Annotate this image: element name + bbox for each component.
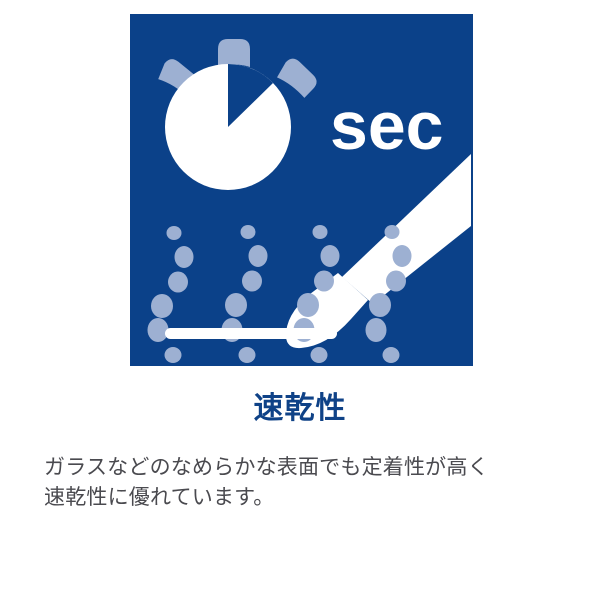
droplet (386, 271, 406, 292)
droplet (366, 318, 387, 342)
description-line-1: ガラスなどのなめらかな表面でも定着性が高く (44, 452, 564, 482)
droplet (165, 347, 182, 363)
feature-description: ガラスなどのなめらかな表面でも定着性が高く 速乾性に優れています。 (44, 452, 564, 512)
droplet (242, 271, 262, 292)
droplet (239, 347, 256, 363)
droplet (167, 226, 182, 240)
droplet (241, 225, 256, 239)
droplet (225, 293, 247, 317)
droplet (168, 272, 188, 293)
droplet (151, 294, 173, 318)
droplet (369, 293, 391, 317)
droplet (249, 245, 268, 267)
droplet (148, 318, 169, 342)
droplet (393, 245, 412, 267)
droplet (311, 347, 328, 363)
feature-card: sec (0, 0, 600, 600)
droplet (383, 347, 400, 363)
droplet (314, 271, 334, 292)
droplet (321, 245, 340, 267)
quick-dry-icon-panel: sec (130, 14, 473, 366)
quick-dry-icon: sec (130, 14, 473, 366)
sec-label: sec (330, 88, 443, 164)
droplet (175, 246, 194, 268)
droplet (297, 293, 319, 317)
droplet (313, 225, 328, 239)
stopwatch-crown-icon (218, 39, 250, 67)
description-line-2: 速乾性に優れています。 (44, 482, 564, 512)
droplet (385, 225, 400, 239)
feature-title: 速乾性 (0, 391, 600, 427)
surface-line (165, 328, 337, 339)
